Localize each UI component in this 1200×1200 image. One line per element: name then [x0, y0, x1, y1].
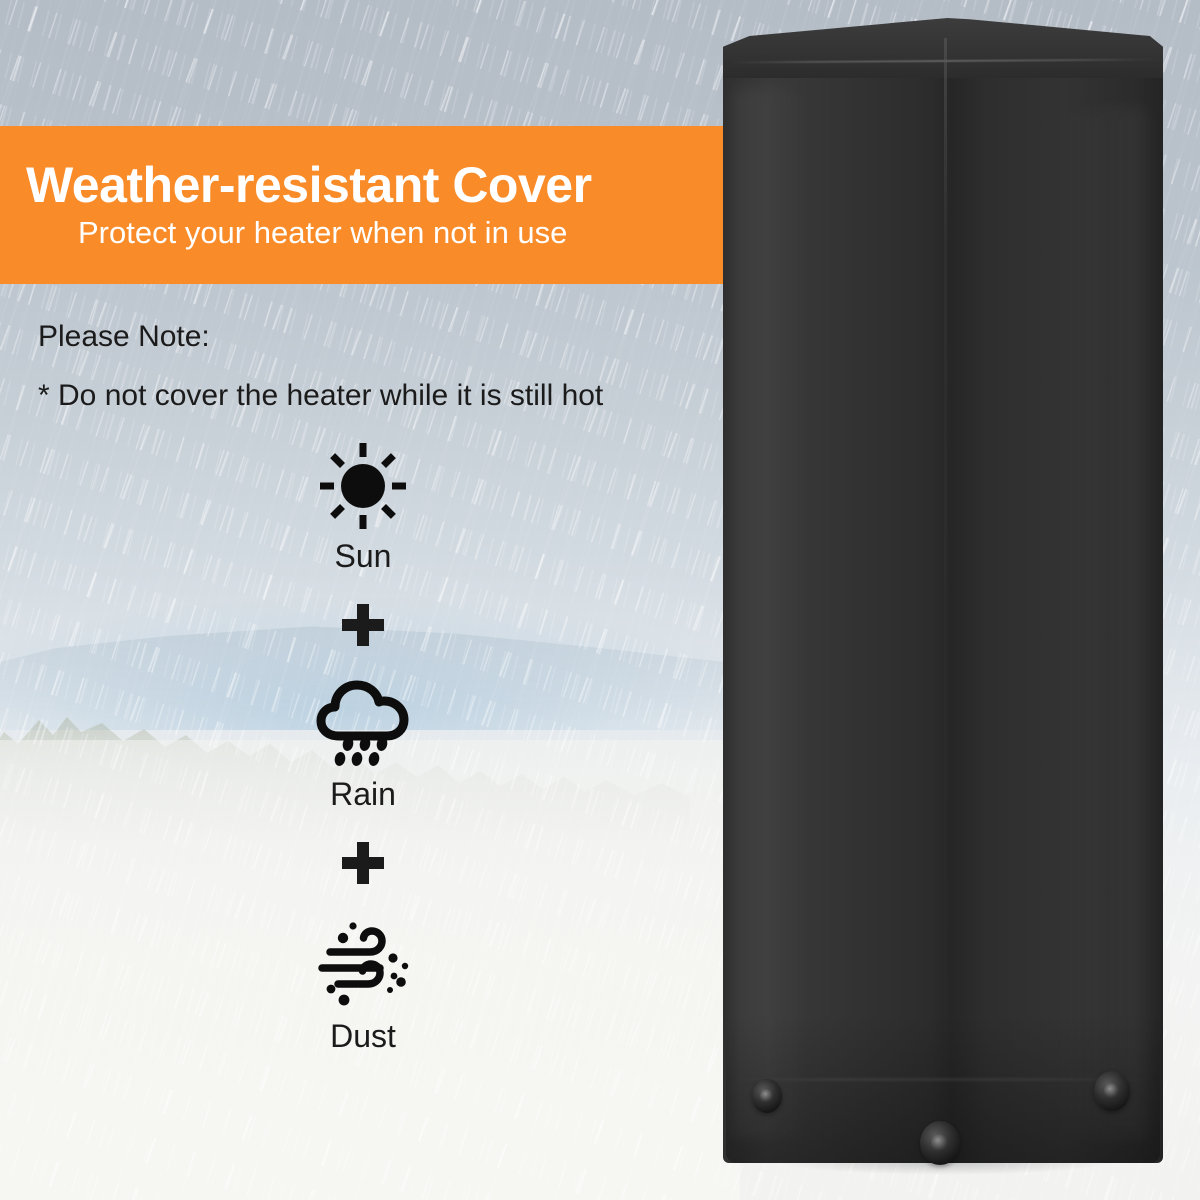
plus-icon [340, 840, 386, 886]
feature-label-sun: Sun [335, 540, 392, 572]
plus-icon [340, 602, 386, 648]
cover-top-panel [723, 18, 1163, 78]
separator-plus-1 [243, 602, 483, 648]
note-warning-line: * Do not cover the heater while it is st… [38, 379, 718, 412]
banner-subtitle: Protect your heater when not in use [78, 216, 723, 250]
dust-wind-icon [308, 916, 418, 1012]
feature-dust: Dust [243, 916, 483, 1052]
caster-wheel [1094, 1071, 1130, 1111]
rain-cloud-icon [315, 678, 411, 770]
separator-plus-2 [243, 840, 483, 886]
banner-title: Weather-resistant Cover [26, 159, 723, 212]
cover-highlight-right [1056, 108, 1146, 1138]
cover-highlight-left [734, 88, 812, 1138]
cover-corner-seam [944, 38, 947, 1158]
note-heading: Please Note: [38, 320, 718, 353]
note-block: Please Note: * Do not cover the heater w… [38, 320, 718, 412]
spacer [243, 810, 483, 840]
feature-rain: Rain [243, 678, 483, 810]
caster-wheel [752, 1079, 782, 1113]
caster-wheel [920, 1121, 960, 1165]
spacer [243, 572, 483, 602]
protection-feature-list: Sun [243, 440, 483, 1052]
patio-heater-cover [720, 18, 1164, 1163]
feature-label-rain: Rain [330, 778, 396, 810]
spacer [243, 886, 483, 916]
feature-label-dust: Dust [330, 1020, 396, 1052]
feature-sun: Sun [243, 440, 483, 572]
spacer [243, 648, 483, 678]
sun-icon [317, 440, 409, 532]
headline-banner: Weather-resistant Cover Protect your hea… [0, 126, 723, 284]
product-marketing-image: Weather-resistant Cover Protect your hea… [0, 0, 1200, 1200]
